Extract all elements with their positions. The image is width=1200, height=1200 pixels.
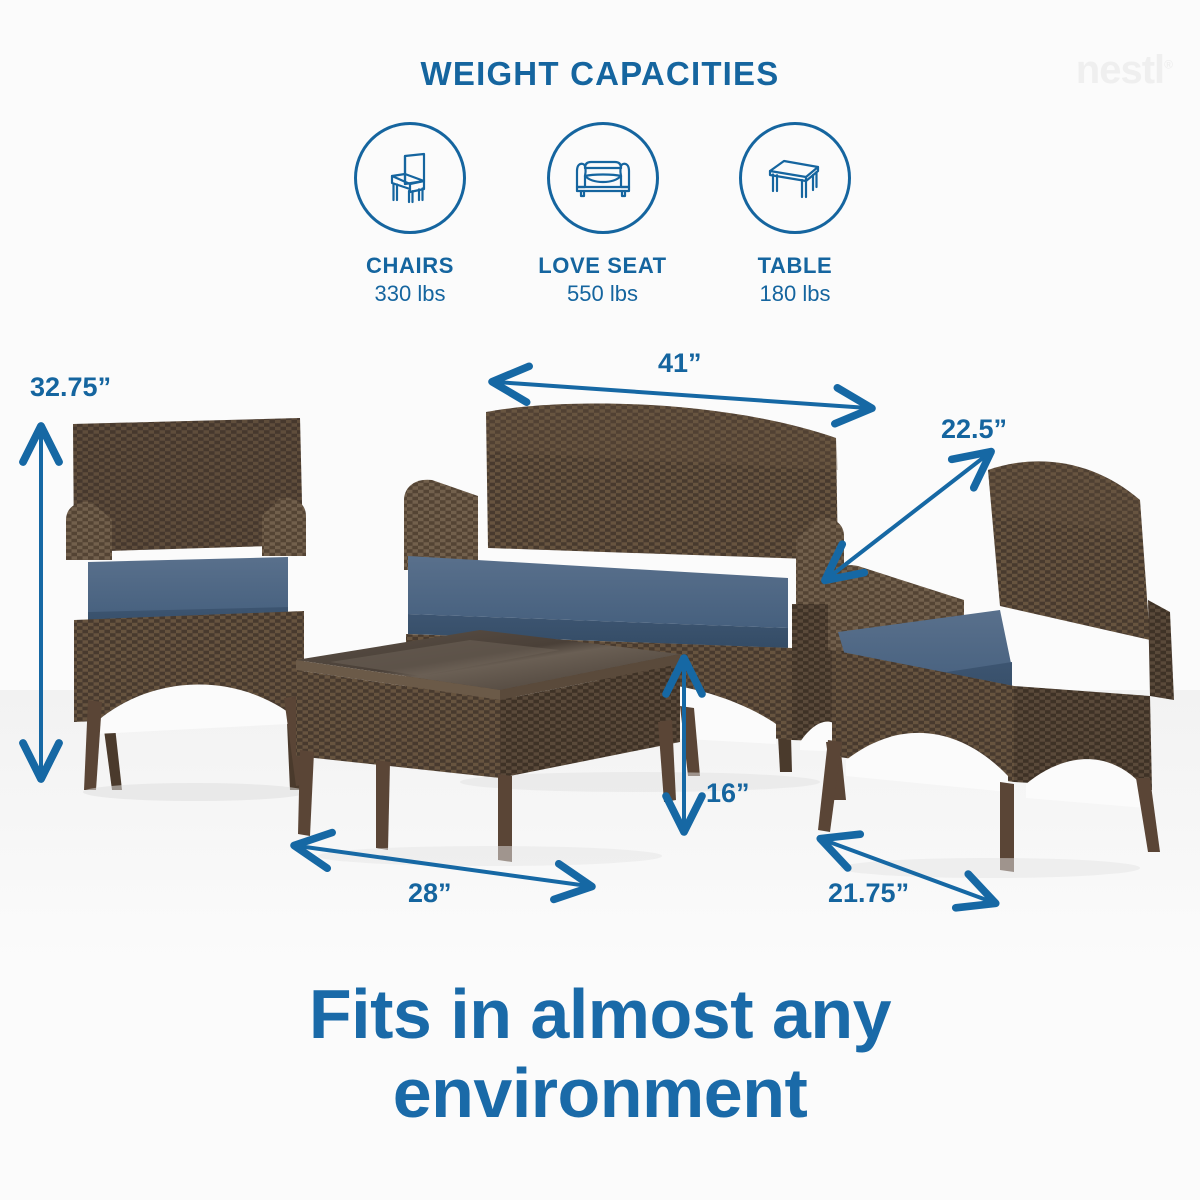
headline-line-2: environment — [0, 1054, 1200, 1133]
table-shadow — [318, 846, 662, 866]
dimension-label-chair-height: 32.75” — [30, 372, 111, 403]
headline-line-1: Fits in almost any — [0, 975, 1200, 1054]
table-leg — [376, 760, 390, 850]
dimension-label-table-width: 28” — [408, 878, 452, 909]
chair-shadow — [83, 783, 307, 801]
dimension-label-chair-depth: 22.5” — [941, 414, 1007, 445]
dimension-label-chair-width: 21.75” — [828, 878, 909, 909]
right-chair-shadow — [840, 858, 1140, 878]
dimension-label-loveseat-width: 41” — [658, 348, 702, 379]
dimension-label-table-height: 16” — [706, 778, 750, 809]
headline: Fits in almost any environment — [0, 975, 1200, 1133]
infographic-canvas: nestl® WEIGHT CAPACITIES — [0, 0, 1200, 1200]
right-chair-arm-right — [1148, 600, 1174, 700]
